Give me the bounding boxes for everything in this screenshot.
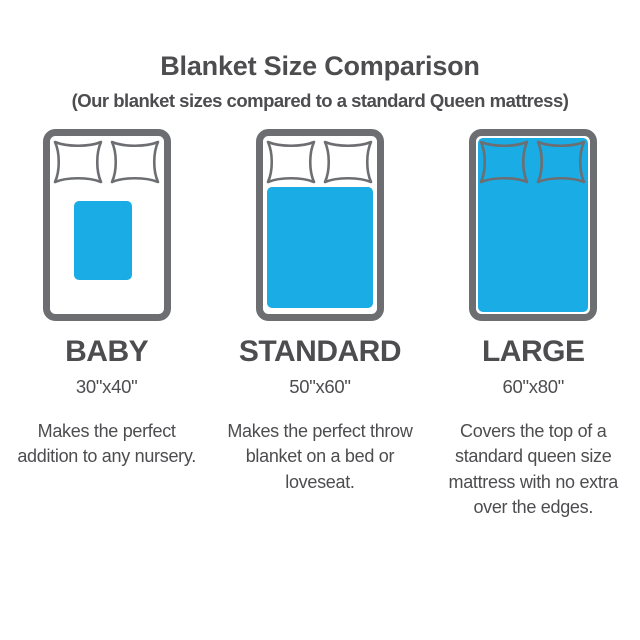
pillow-right-icon — [112, 142, 158, 182]
comparison-column-large: LARGE 60"x80" Covers the top of a standa… — [427, 129, 640, 521]
pillow-left-icon — [55, 142, 101, 182]
size-name-baby: BABY — [65, 337, 148, 367]
bed-illustration-large — [468, 129, 598, 325]
bed-large-icon — [469, 129, 597, 325]
pillow-left-icon — [268, 142, 314, 182]
pillow-right-icon — [325, 142, 371, 182]
infographic-header: Blanket Size Comparison (Our blanket siz… — [0, 0, 640, 111]
comparison-column-standard: STANDARD 50"x60" Makes the perfect throw… — [213, 129, 426, 521]
size-name-standard: STANDARD — [239, 337, 401, 367]
bed-illustration-standard — [255, 129, 385, 325]
page-title: Blanket Size Comparison — [0, 52, 640, 82]
bed-baby-icon — [43, 129, 171, 325]
bed-illustration-baby — [42, 129, 172, 325]
blanket-standard-shape — [267, 187, 373, 308]
size-dimensions-baby: 30"x40" — [76, 378, 137, 397]
size-dimensions-standard: 50"x60" — [289, 378, 350, 397]
blanket-large-shape — [478, 138, 588, 312]
comparison-column-baby: BABY 30"x40" Makes the perfect addition … — [0, 129, 213, 521]
bed-standard-icon — [256, 129, 384, 325]
size-dimensions-large: 60"x80" — [503, 378, 564, 397]
size-name-large: LARGE — [482, 337, 585, 367]
size-description-baby: Makes the perfect addition to any nurser… — [9, 419, 205, 470]
comparison-columns: BABY 30"x40" Makes the perfect addition … — [0, 129, 640, 521]
page-subtitle: (Our blanket sizes compared to a standar… — [0, 91, 640, 111]
blanket-baby-shape — [74, 201, 132, 280]
size-description-large: Covers the top of a standard queen size … — [435, 419, 631, 521]
size-description-standard: Makes the perfect throw blanket on a bed… — [222, 419, 418, 496]
